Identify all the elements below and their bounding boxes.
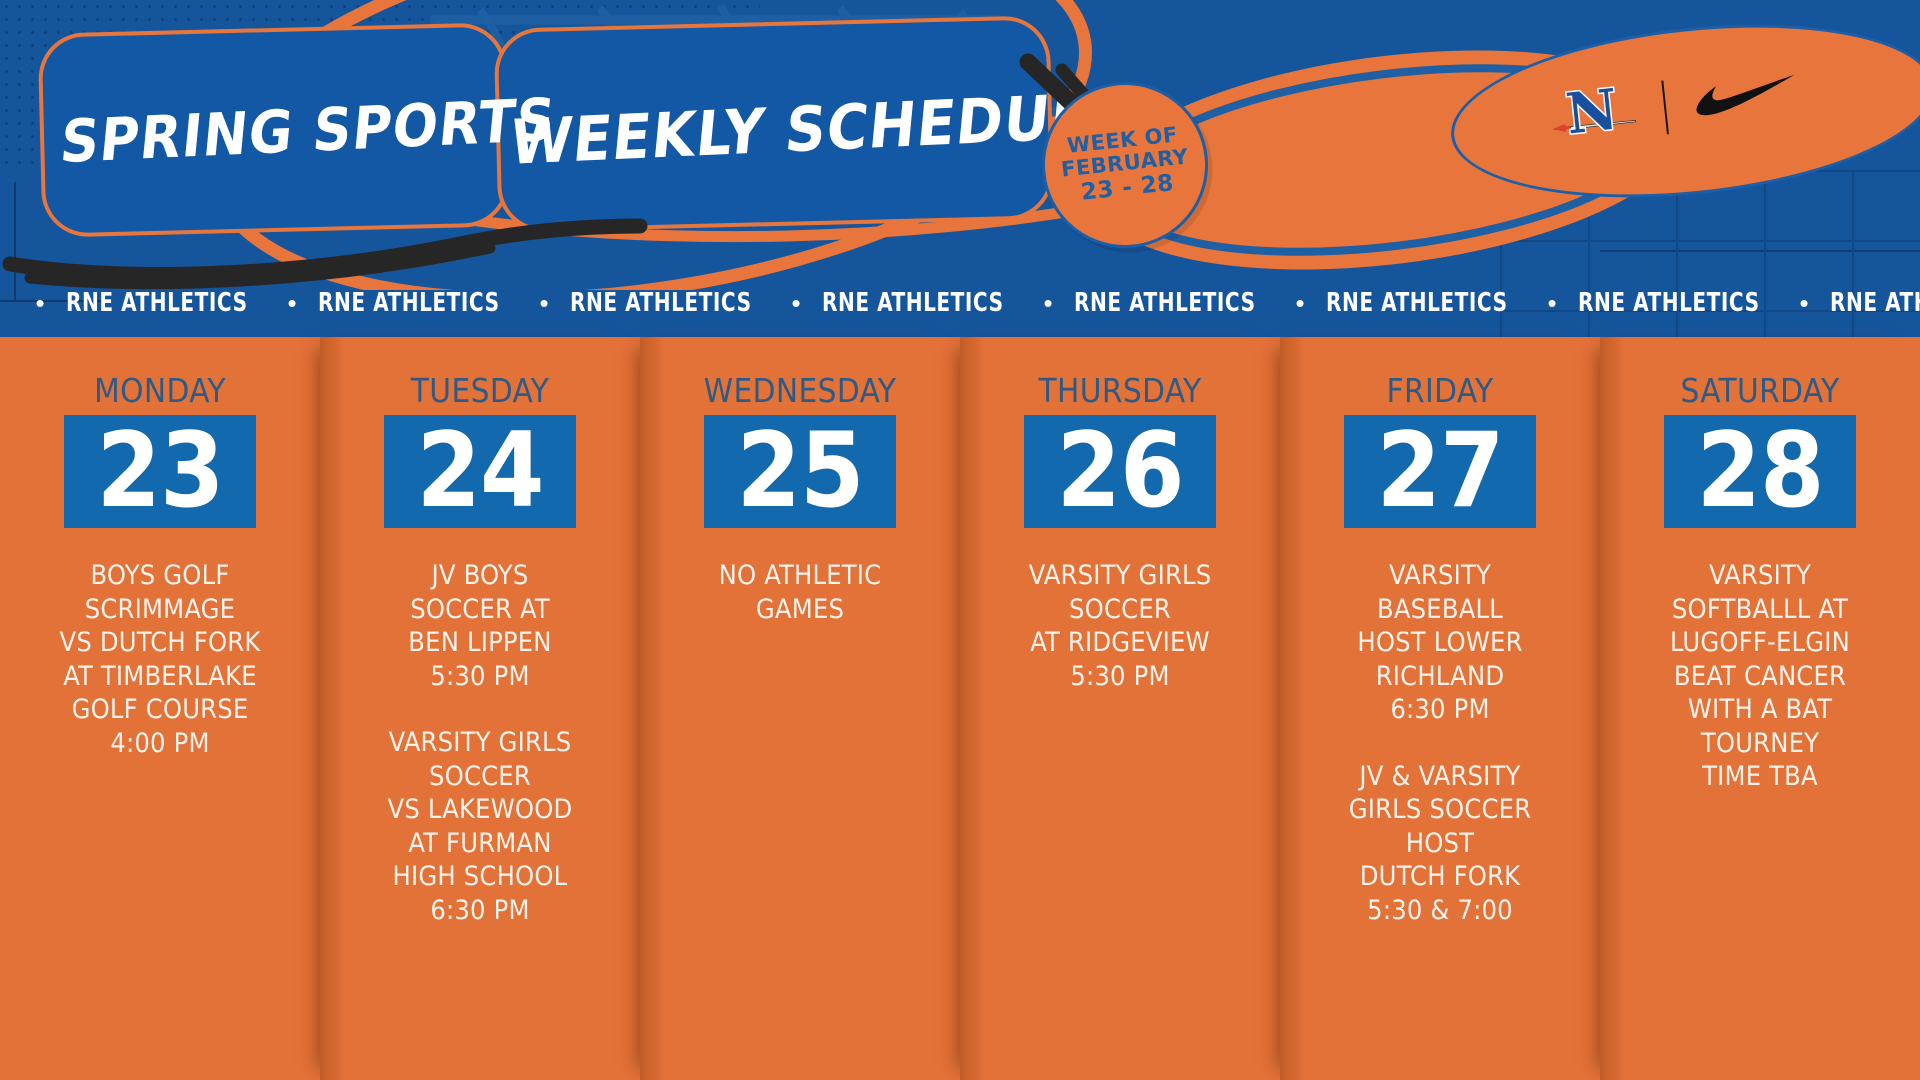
event-entry: BOYS GOLF SCRIMMAGE VS DUTCH FORK AT TIM… (60, 559, 261, 760)
event-entry: VARSITY BASEBALL HOST LOWER RICHLAND 6:3… (1357, 559, 1522, 727)
date-box: 25 (704, 415, 896, 528)
ticker-label: RNE ATHLETICS (1074, 288, 1246, 318)
day-name-label: SATURDAY (1680, 374, 1839, 407)
ticker-bullet: • (518, 288, 570, 319)
event-entry: JV BOYS SOCCER AT BEN LIPPEN 5:30 PM (408, 559, 551, 693)
day-name-label: TUESDAY (411, 374, 549, 407)
day-column-wednesday: WEDNESDAY25NO ATHLETIC GAMES (640, 337, 960, 1080)
date-number: 28 (1697, 420, 1824, 523)
event-list: JV BOYS SOCCER AT BEN LIPPEN 5:30 PMVARS… (320, 559, 640, 927)
ticker-label: RNE ATHLETICS (1578, 288, 1750, 318)
date-number: 24 (417, 420, 544, 523)
spring-sports-schedule-poster: SPRING SPORTS WEEKLY SCHEDULE WEEK OF FE… (0, 0, 1920, 1080)
event-entry: VARSITY GIRLS SOCCER AT RIDGEVIEW 5:30 P… (1029, 559, 1212, 693)
ticker-label: RNE ATHLETICS (822, 288, 994, 318)
date-box: 26 (1024, 415, 1216, 528)
day-name-label: WEDNESDAY (704, 374, 897, 407)
day-column-tuesday: TUESDAY24JV BOYS SOCCER AT BEN LIPPEN 5:… (320, 337, 640, 1080)
day-column-thursday: THURSDAY26VARSITY GIRLS SOCCER AT RIDGEV… (960, 337, 1280, 1080)
event-list: VARSITY BASEBALL HOST LOWER RICHLAND 6:3… (1280, 559, 1600, 927)
nike-swoosh-icon (1690, 72, 1802, 125)
ticker-label: RNE ATHLETICS (66, 288, 238, 318)
ticker-bullet: • (1274, 288, 1326, 319)
event-entry: VARSITY GIRLS SOCCER VS LAKEWOOD AT FURM… (388, 726, 573, 927)
schedule-columns: MONDAY23BOYS GOLF SCRIMMAGE VS DUTCH FOR… (0, 337, 1920, 1080)
date-box: 23 (64, 415, 256, 528)
date-number: 23 (97, 420, 224, 523)
ticker-bullet: • (1022, 288, 1074, 319)
date-box: 24 (384, 415, 576, 528)
ticker-bullet: • (14, 288, 66, 319)
ticker-label: RNE ATHLETICS (570, 288, 742, 318)
ticker-label: RNE ATHLETICS (1326, 288, 1498, 318)
ticker-label: RNE ATHLETICS (1830, 288, 1920, 318)
event-entry: NO ATHLETIC GAMES (719, 559, 882, 626)
ticker-bullet: • (1526, 288, 1578, 319)
date-box: 28 (1664, 415, 1856, 528)
date-box: 27 (1344, 415, 1536, 528)
ticker-bullet: • (1778, 288, 1830, 319)
date-number: 26 (1057, 420, 1184, 523)
date-number: 27 (1377, 420, 1504, 523)
day-name-label: FRIDAY (1386, 374, 1493, 407)
event-list: VARSITY SOFTBALLL AT LUGOFF-ELGIN BEAT C… (1600, 559, 1920, 794)
day-column-monday: MONDAY23BOYS GOLF SCRIMMAGE VS DUTCH FOR… (0, 337, 320, 1080)
day-column-saturday: SATURDAY28VARSITY SOFTBALLL AT LUGOFF-EL… (1600, 337, 1920, 1080)
day-name-label: THURSDAY (1038, 374, 1201, 407)
date-number: 25 (737, 420, 864, 523)
school-n-letter: N (1563, 82, 1620, 143)
ticker-label: RNE ATHLETICS (318, 288, 490, 318)
ticker-content: •RNE ATHLETICS•RNE ATHLETICS•RNE ATHLETI… (0, 288, 1920, 319)
ticker-bar: •RNE ATHLETICS•RNE ATHLETICS•RNE ATHLETI… (0, 272, 1920, 334)
day-column-friday: FRIDAY27VARSITY BASEBALL HOST LOWER RICH… (1280, 337, 1600, 1080)
event-entry: JV & VARSITY GIRLS SOCCER HOST DUTCH FOR… (1349, 760, 1532, 928)
event-list: BOYS GOLF SCRIMMAGE VS DUTCH FORK AT TIM… (0, 559, 320, 760)
event-list: VARSITY GIRLS SOCCER AT RIDGEVIEW 5:30 P… (960, 559, 1280, 693)
ticker-bullet: • (266, 288, 318, 319)
ticker-bullet: • (770, 288, 822, 319)
event-list: NO ATHLETIC GAMES (640, 559, 960, 626)
event-entry: VARSITY SOFTBALLL AT LUGOFF-ELGIN BEAT C… (1670, 559, 1850, 794)
day-name-label: MONDAY (94, 374, 226, 407)
header-banner: SPRING SPORTS WEEKLY SCHEDULE WEEK OF FE… (0, 0, 1920, 337)
logo-divider (1661, 80, 1669, 134)
school-n-logo: N (1546, 79, 1642, 150)
